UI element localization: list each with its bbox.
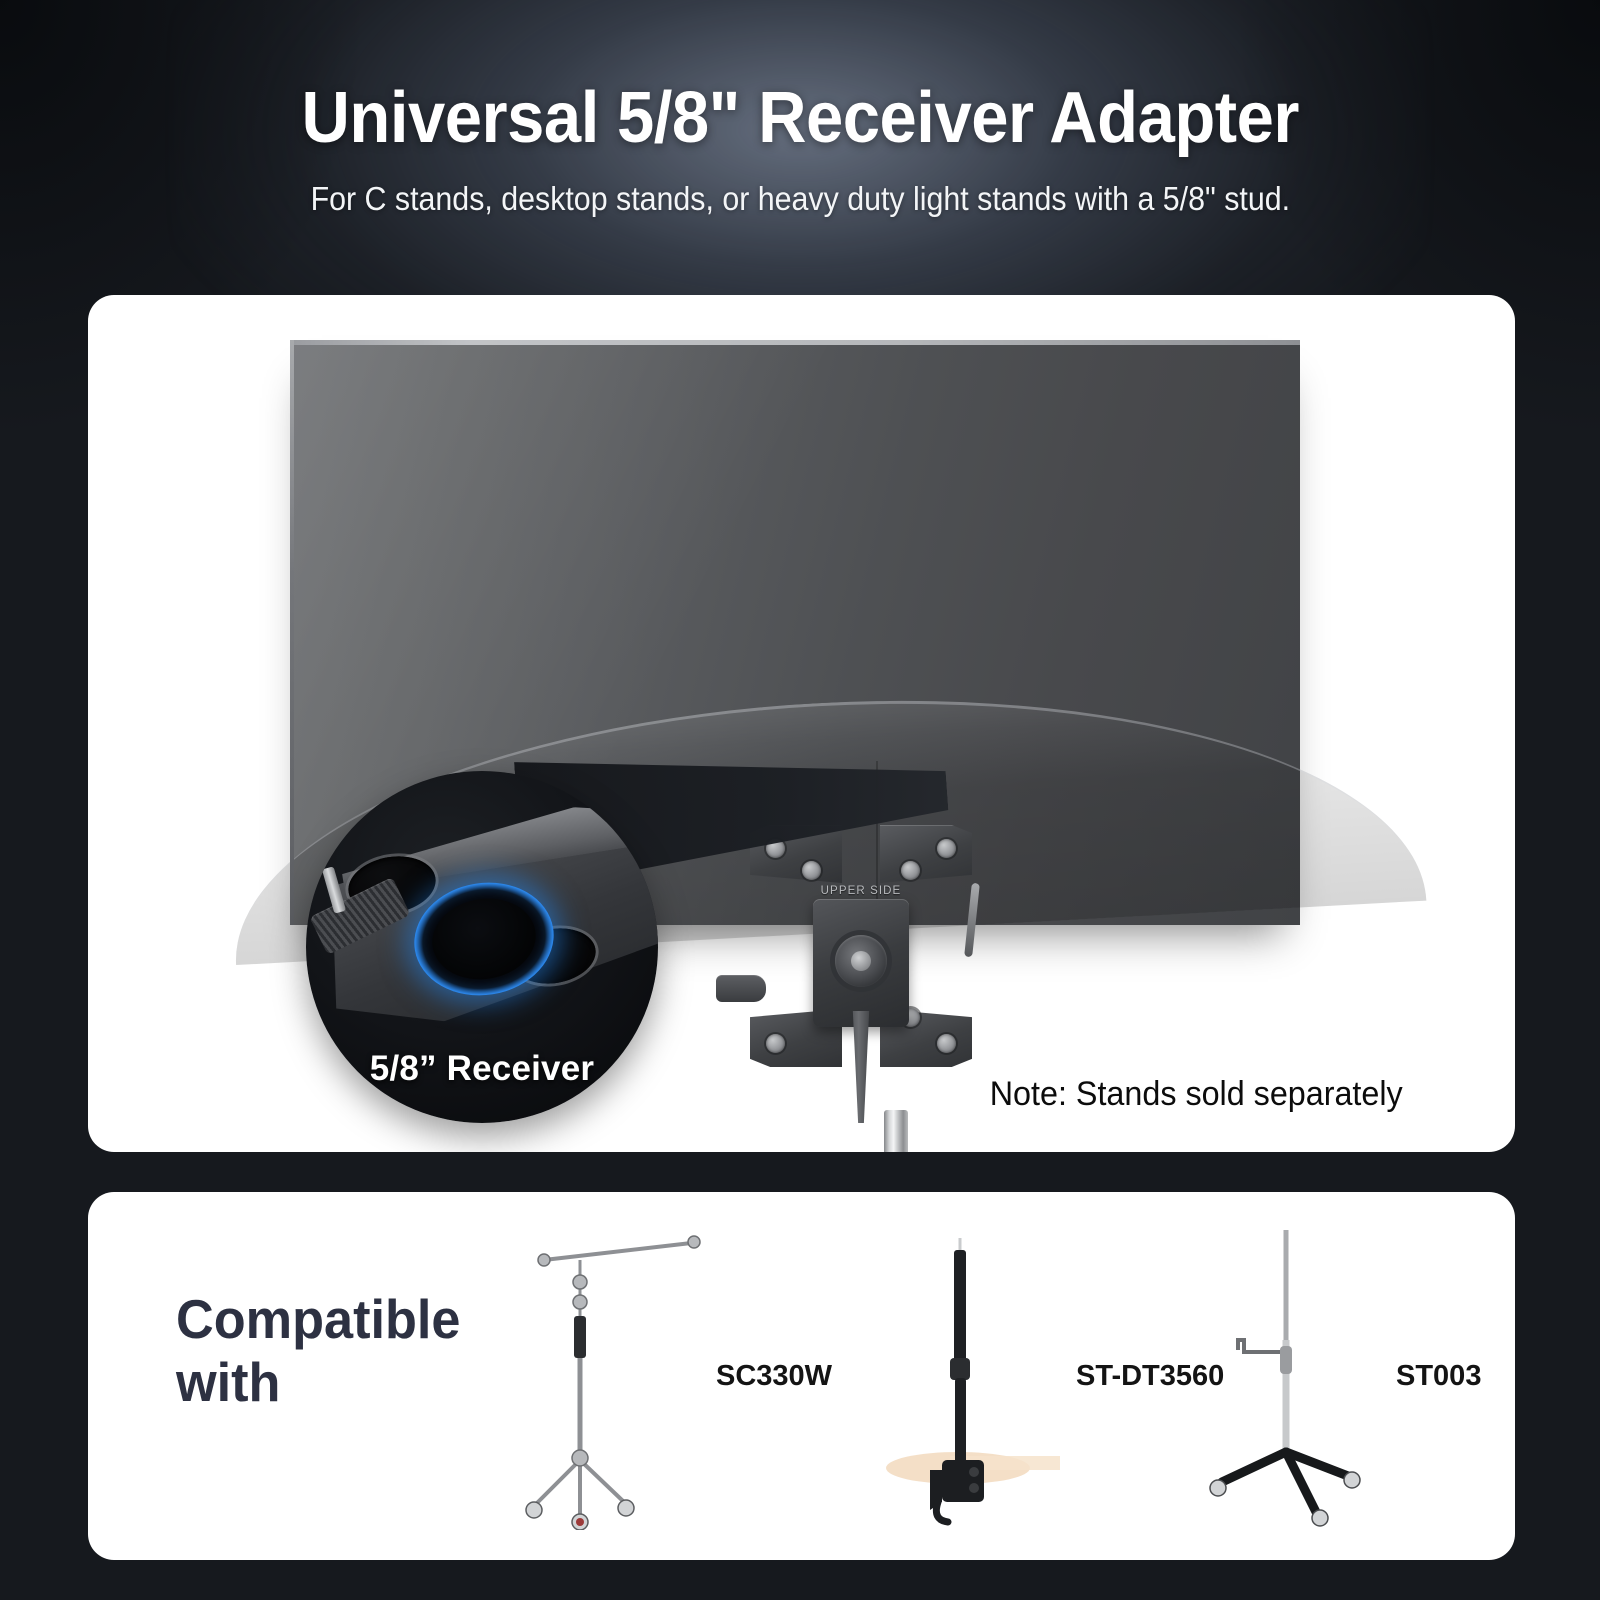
compatible-with-title: Compatible with	[176, 1288, 461, 1413]
pole-upper-tube	[884, 1110, 908, 1152]
stand-label: SC330W	[716, 1360, 832, 1393]
hero-product-card: UPPER SIDE 5/8” Receiver Note:	[88, 295, 1515, 1152]
vesa-hub	[813, 899, 909, 1027]
desktop-clamp-stand-icon	[878, 1220, 1068, 1530]
callout-label: 5/8” Receiver	[306, 1049, 658, 1089]
vesa-arm-top-right	[880, 825, 972, 883]
vesa-screw-icon	[766, 1034, 785, 1053]
light-stand-tripod-icon	[1198, 1220, 1388, 1530]
stand-label: ST003	[1396, 1360, 1481, 1393]
hero-note: Note: Stands sold separately	[990, 1075, 1403, 1114]
compat-title-line-2: with	[176, 1351, 461, 1414]
compatible-stand-item[interactable]: ST-DT3560	[878, 1220, 1228, 1538]
page-subtitle: For C stands, desktop stands, or heavy d…	[310, 180, 1289, 218]
compatible-with-card: Compatible with	[88, 1192, 1515, 1560]
compat-title-line-1: Compatible	[176, 1288, 461, 1351]
c-stand-pole-icon	[836, 1110, 956, 1152]
vesa-mount-plate-icon: UPPER SIDE	[750, 825, 972, 1067]
vesa-screw-icon	[901, 861, 920, 880]
vesa-screw-icon	[802, 861, 821, 880]
vesa-pivot-cap	[851, 951, 871, 971]
vesa-plate-label: UPPER SIDE	[750, 885, 972, 897]
monitor-left-edge	[290, 340, 294, 925]
receiver-bore	[426, 891, 541, 986]
vesa-screw-icon	[937, 1034, 956, 1053]
compatible-stand-item[interactable]: SC330W	[518, 1220, 868, 1538]
monitor-top-edge	[290, 340, 1300, 345]
vesa-stem	[849, 1011, 873, 1123]
header: Universal 5/8" Receiver Adapter For C st…	[0, 0, 1600, 280]
compatible-stand-item[interactable]: ST003	[1198, 1220, 1515, 1538]
vesa-pivot-icon	[835, 935, 887, 987]
vesa-screw-icon	[937, 839, 956, 858]
vesa-knob-icon	[716, 975, 766, 1002]
c-stand-boom-icon	[518, 1220, 708, 1530]
page-title: Universal 5/8" Receiver Adapter	[301, 82, 1298, 154]
callout-magnifier-icon: 5/8” Receiver	[306, 771, 658, 1123]
